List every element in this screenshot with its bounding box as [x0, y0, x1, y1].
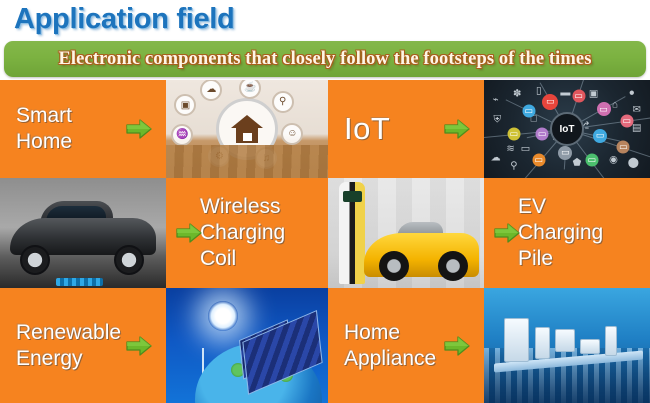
smart-home-satellite-icon: ♒	[171, 124, 193, 146]
iot-node: ▭	[558, 146, 572, 160]
smart-home-satellite-icon: ☕	[239, 80, 261, 99]
smart-home-satellite-icon: ⚲	[272, 91, 294, 113]
smart-home-satellite-icon: ☺	[281, 123, 303, 145]
iot-node: ▭	[542, 94, 558, 110]
iot-peripheral-icon: ☁	[491, 153, 501, 164]
iot-node: ▭	[532, 154, 545, 167]
arrow-right-icon	[126, 335, 152, 357]
label-wireless-charging-coil: Wireless Charging Coil	[200, 194, 285, 272]
cell-ev-car-image	[0, 178, 166, 288]
home-appliance-image	[484, 288, 650, 403]
iot-peripheral-icon: ⚲	[510, 161, 517, 172]
arrow-left-icon	[176, 222, 202, 244]
washer-icon	[535, 327, 550, 359]
car-wheel	[20, 245, 50, 275]
label-home-appliance: Home Appliance	[344, 320, 436, 372]
iot-peripheral-icon: ≋	[506, 143, 514, 154]
cell-renewable-energy[interactable]: Renewable Energy	[0, 288, 166, 403]
smart-home-image: ☁☕⚲▣♒☺⚙♫	[166, 80, 328, 178]
smart-home-satellite-icon: ☁	[200, 80, 222, 101]
car-wheel	[114, 245, 144, 275]
iot-peripheral-icon: ⬤	[628, 158, 639, 169]
iot-peripheral-icon: ▣	[589, 88, 598, 99]
iot-peripheral-icon: ✉	[633, 105, 641, 116]
solar-earth-image	[166, 288, 328, 403]
iot-peripheral-icon: ◉	[609, 155, 618, 166]
iot-network-image: IoT ▭▭▭▭▭▭▭▭▭▭▭▭ ⌁✽▯▬▣●⌂✉⛨□▤☁≋▭⚲▨⬟◉⬤⎇	[484, 80, 650, 178]
label-renewable-energy: Renewable Energy	[16, 320, 121, 372]
iot-peripheral-icon: ●	[629, 87, 635, 98]
arrow-right-icon	[126, 118, 152, 140]
cell-home-appliance[interactable]: Home Appliance	[328, 288, 484, 403]
arrow-left-icon	[494, 222, 520, 244]
iot-peripheral-icon: ⌁	[493, 94, 499, 105]
water-heater-icon	[605, 326, 617, 356]
microwave-icon	[580, 339, 600, 354]
iot-node: ▭	[507, 127, 520, 140]
banner-text: Electronic components that closely follo…	[58, 49, 591, 70]
label-smart-home: Smart Home	[16, 103, 72, 155]
wireless-charging-pad	[56, 278, 102, 286]
cell-ev-charging-pile[interactable]: EV Charging Pile	[484, 178, 650, 288]
wireless-charging-car-image	[0, 178, 166, 288]
iot-node: ▭	[617, 140, 630, 153]
cell-wireless-charging-coil[interactable]: Wireless Charging Coil	[166, 178, 328, 288]
iot-peripheral-icon: ⛨	[494, 115, 502, 126]
iot-node: ▭	[597, 102, 611, 116]
banner: Electronic components that closely follo…	[4, 41, 646, 77]
cell-iot-network-image: IoT ▭▭▭▭▭▭▭▭▭▭▭▭ ⌁✽▯▬▣●⌂✉⛨□▤☁≋▭⚲▨⬟◉⬤⎇	[484, 80, 650, 178]
arrow-right-icon	[444, 118, 470, 140]
iot-hub-node: IoT	[550, 112, 584, 146]
refrigerator-icon	[504, 318, 529, 362]
cell-home-appliance-image	[484, 288, 650, 403]
smart-home-hub-icon	[216, 98, 278, 160]
cell-solar-earth-image	[166, 288, 328, 403]
cell-iot[interactable]: IoT	[328, 80, 484, 178]
cell-smart-home[interactable]: Smart Home	[0, 80, 166, 178]
slide-root: Application field Electronic components …	[0, 0, 650, 403]
arrow-right-icon	[444, 335, 470, 357]
cell-charging-pile-image	[328, 178, 484, 288]
iot-peripheral-icon: ▬	[560, 87, 570, 98]
cell-smart-home-image: ☁☕⚲▣♒☺⚙♫	[166, 80, 328, 178]
sun-icon	[208, 301, 238, 331]
iot-peripheral-icon: ▤	[632, 123, 641, 134]
iot-peripheral-icon: ⬟	[573, 158, 582, 169]
house-icon	[231, 115, 263, 143]
iot-peripheral-icon: ▯	[536, 85, 542, 96]
iot-node: ▭	[620, 115, 633, 128]
application-grid: Smart Home ☁☕⚲▣♒☺⚙♫ IoT IoT ▭▭▭▭	[0, 80, 650, 403]
label-ev-charging-pile: EV Charging Pile	[518, 194, 603, 272]
range-hood-icon	[555, 329, 575, 352]
iot-node: ▭	[593, 129, 607, 143]
iot-node: ▭	[572, 89, 585, 102]
iot-peripheral-icon: ✽	[513, 88, 521, 99]
iot-peripheral-icon: ▭	[521, 143, 530, 154]
page-title: Application field	[14, 1, 234, 37]
smart-home-satellite-icon: ♫	[255, 147, 277, 169]
smart-home-satellite-icon: ▣	[174, 94, 196, 116]
smart-home-satellite-icon: ⚙	[208, 145, 230, 167]
house-window-icon	[243, 133, 252, 141]
charging-pile-image	[328, 178, 484, 288]
iot-node: ▭	[585, 154, 598, 167]
iot-node: ▭	[536, 127, 549, 140]
charging-pile-screen	[343, 191, 362, 202]
iot-node: ▭	[522, 105, 535, 118]
label-iot: IoT	[344, 112, 390, 146]
